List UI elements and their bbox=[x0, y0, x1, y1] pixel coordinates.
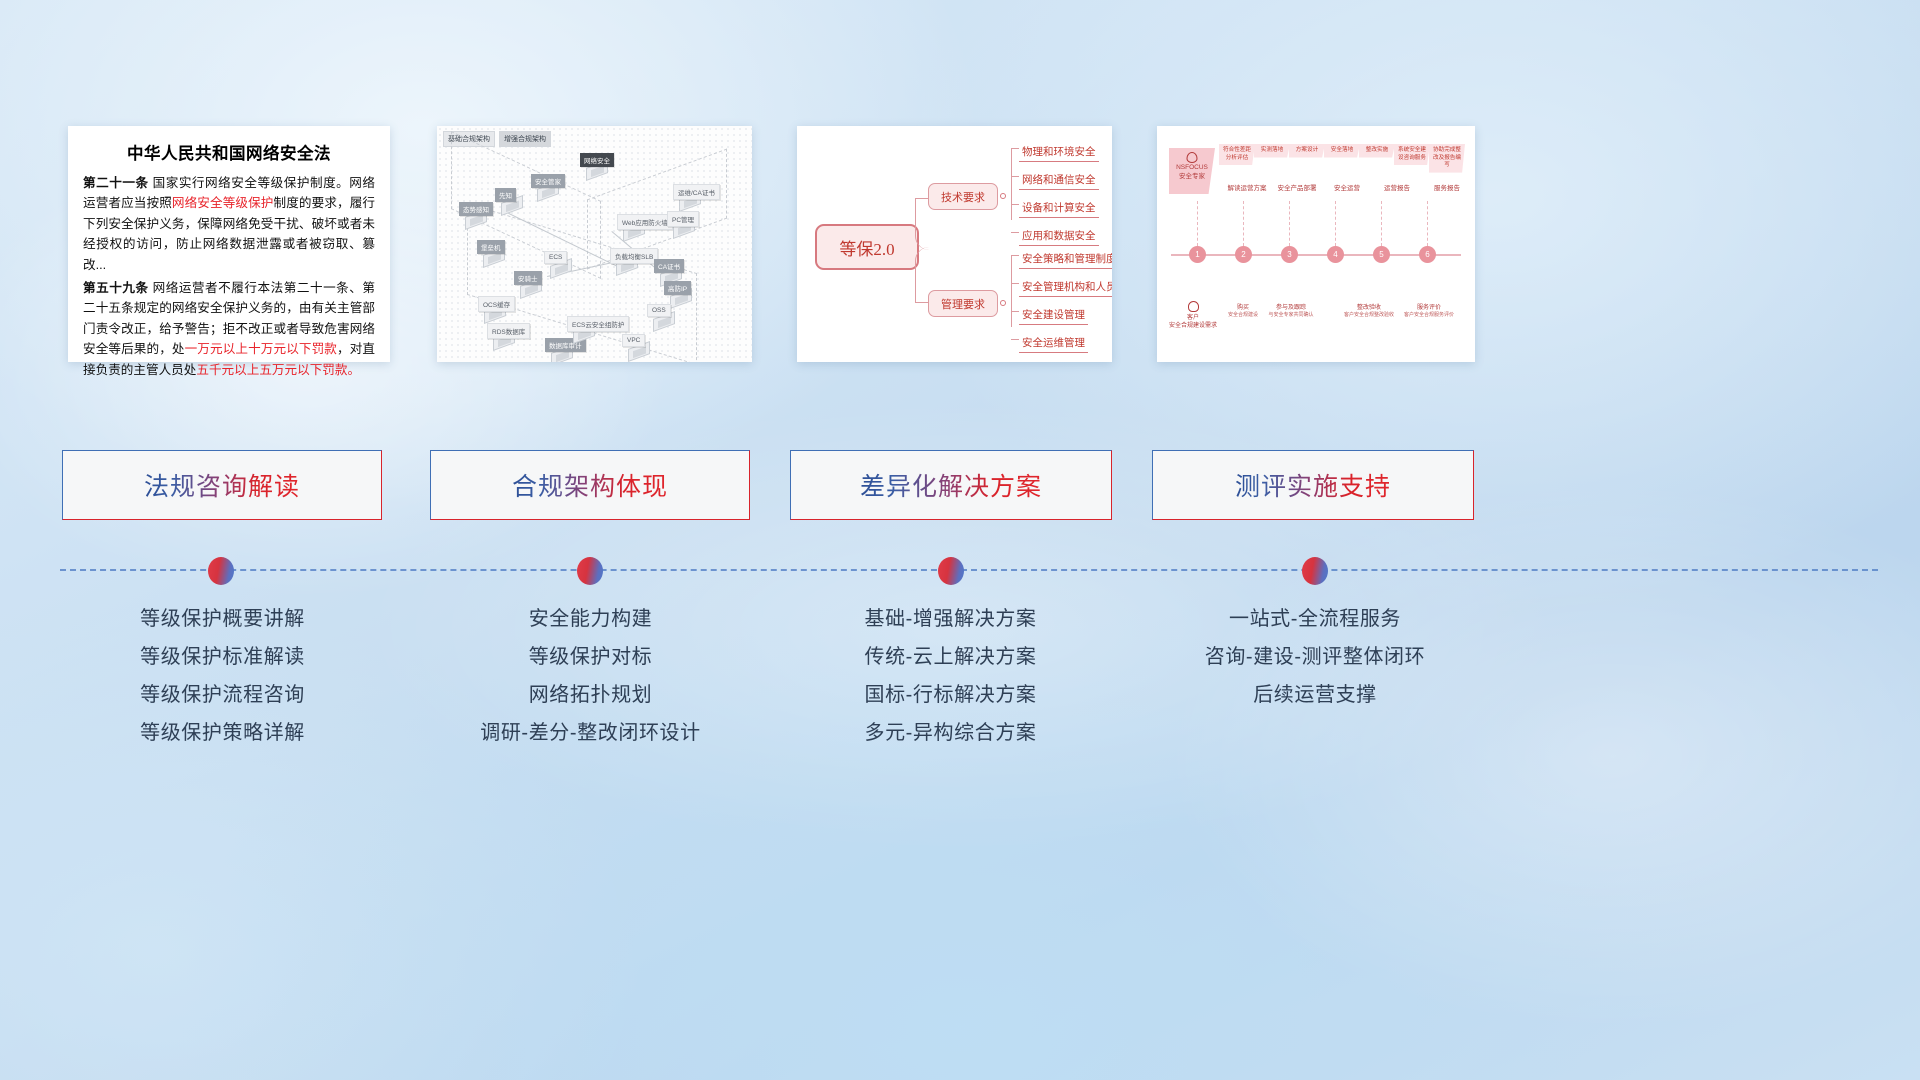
mindmap-leaf-connector bbox=[1011, 339, 1019, 340]
mindmap-branch-technical: 技术要求 bbox=[928, 183, 998, 210]
nsfocus-step-chevron: 方案设计 bbox=[1289, 144, 1325, 158]
feature-list-item: 后续运营支撑 bbox=[1150, 676, 1480, 714]
nsfocus-step-chevron: 系统安全建设咨询服务 bbox=[1394, 144, 1430, 165]
diagram-node-label: Web应用防火墙 bbox=[617, 214, 673, 230]
mindmap-leaf: 物理和环境安全 bbox=[1019, 144, 1099, 162]
feature-list-item: 基础-增强解决方案 bbox=[788, 600, 1113, 638]
law-article-number: 第二十一条 bbox=[83, 176, 153, 190]
timeline-dashed-line bbox=[60, 569, 1878, 571]
nsfocus-step-chevron: 实测落地 bbox=[1254, 144, 1290, 158]
diagram-node-label: 态势感知 bbox=[459, 202, 493, 216]
section-header-row: 法规咨询解读 合规架构体现 差异化解决方案 测评实施支持 bbox=[0, 450, 1920, 520]
feature-list-item: 多元-异构综合方案 bbox=[788, 714, 1113, 752]
feature-list-row: 等级保护概要讲解等级保护标准解读等级保护流程咨询等级保护策略详解 安全能力构建等… bbox=[0, 600, 1920, 820]
nsfocus-milestone-stem bbox=[1335, 201, 1336, 246]
diagram-node-label: 安全管家 bbox=[531, 174, 565, 188]
law-body: 第二十一条 国家实行网络安全等级保护制度。网络运营者应当按照网络安全等级保护制度… bbox=[83, 173, 375, 380]
nsfocus-footer-left-label: 客户 bbox=[1167, 314, 1219, 322]
diagram-node-label: RDS数据库 bbox=[487, 323, 530, 339]
nsfocus-footer-item-sub: 安全合规建设 bbox=[1217, 312, 1269, 319]
section-header-label-1: 法规咨询解读 bbox=[144, 467, 300, 503]
mindmap-leaf: 安全建设管理 bbox=[1019, 307, 1088, 325]
diagram-node-label: CA证书 bbox=[654, 259, 684, 273]
diagram-node-label: 高防IP bbox=[664, 281, 691, 295]
feature-list-item: 传统-云上解决方案 bbox=[788, 638, 1113, 676]
mindmap-collapse-dot-technical[interactable] bbox=[1000, 193, 1006, 199]
nsfocus-milestone-stem bbox=[1197, 201, 1198, 246]
mindmap-leaf-connector bbox=[1011, 283, 1019, 284]
section-header-box-3[interactable]: 差异化解决方案 bbox=[790, 450, 1112, 520]
law-title: 中华人民共和国网络安全法 bbox=[83, 140, 375, 164]
nsfocus-footer-item-sub: 客户安全合规整改验收 bbox=[1343, 312, 1395, 319]
law-document: 中华人民共和国网络安全法 第二十一条 国家实行网络安全等级保护制度。网络运营者应… bbox=[68, 126, 390, 388]
mindmap-leaf-connector bbox=[1011, 255, 1019, 256]
nsfocus-footer-item: 服务评价客户安全合规服务评价 bbox=[1403, 304, 1455, 319]
nsfocus-header-label: 安全产品部署 bbox=[1273, 184, 1321, 193]
nsfocus-footer-left: 客户 安全合规建设需求 bbox=[1167, 301, 1219, 331]
nsfocus-footer-item: 购买安全合规建设 bbox=[1217, 304, 1269, 319]
law-highlight-text: 一万元以上十万元以下罚款 bbox=[185, 342, 337, 356]
law-paragraph: 第五十九条 网络运营者不履行本法第二十一条、第二十五条规定的网络安全保护义务的，… bbox=[83, 278, 375, 380]
feature-list-item: 等级保护流程咨询 bbox=[60, 676, 385, 714]
mindmap-collapse-dot-management[interactable] bbox=[1000, 300, 1006, 306]
timeline-dot-2[interactable] bbox=[577, 557, 603, 585]
timeline-dot-4[interactable] bbox=[1302, 557, 1328, 585]
mindmap-leaf-connector bbox=[1011, 148, 1019, 149]
nsfocus-milestone[interactable]: 6 bbox=[1419, 246, 1436, 263]
nsfocus-milestone-stem bbox=[1381, 201, 1382, 246]
mindmap-leaf: 网络和通信安全 bbox=[1019, 172, 1099, 190]
card-row: 中华人民共和国网络安全法 第二十一条 国家实行网络安全等级保护制度。网络运营者应… bbox=[0, 126, 1920, 366]
nsfocus-milestone[interactable]: 5 bbox=[1373, 246, 1390, 263]
timeline-dot-1[interactable] bbox=[208, 557, 234, 585]
section-header-box-1[interactable]: 法规咨询解读 bbox=[62, 450, 382, 520]
feature-list-item: 网络拓扑规划 bbox=[428, 676, 753, 714]
nsfocus-footer-item-sub: 与安全专家共同确认 bbox=[1265, 312, 1317, 319]
customer-icon bbox=[1188, 301, 1199, 312]
feature-list-item: 一站式-全流程服务 bbox=[1150, 600, 1480, 638]
card-cybersecurity-law[interactable]: 中华人民共和国网络安全法 第二十一条 国家实行网络安全等级保护制度。网络运营者应… bbox=[68, 126, 390, 362]
diagram-node-label: OCS缓存 bbox=[478, 296, 515, 312]
diagram-node-label: 堡垒机 bbox=[477, 240, 505, 254]
person-icon bbox=[1187, 152, 1198, 163]
card-compliance-architecture[interactable]: 基础合规架构增强合规架构 网络安全安全管家先知态势感知堡垒机ECS安骑士OCS缓… bbox=[437, 126, 752, 362]
mindmap-branch-management: 管理要求 bbox=[928, 290, 998, 317]
feature-list-1: 等级保护概要讲解等级保护标准解读等级保护流程咨询等级保护策略详解 bbox=[60, 600, 385, 752]
mindmap-leaf: 安全管理机构和人员 bbox=[1019, 279, 1112, 297]
diagram-node-label: ECS bbox=[544, 251, 567, 264]
card-dengbao-mindmap[interactable]: 等保2.0 技术要求 管理要求 物理和环境安全网络和通信安全设备和计算安全应用和… bbox=[797, 126, 1112, 362]
nsfocus-process: NSFOCUS 安全专家 符合性差距分析评估实测落地方案设计安全落地整改实施系统… bbox=[1157, 126, 1475, 362]
law-paragraph: 第二十一条 国家实行网络安全等级保护制度。网络运营者应当按照网络安全等级保护制度… bbox=[83, 173, 375, 275]
feature-list-3: 基础-增强解决方案传统-云上解决方案国标-行标解决方案多元-异构综合方案 bbox=[788, 600, 1113, 752]
nsfocus-expert-badge: NSFOCUS 安全专家 bbox=[1169, 148, 1215, 194]
architecture-diagram: 基础合规架构增强合规架构 网络安全安全管家先知态势感知堡垒机ECS安骑士OCS缓… bbox=[437, 126, 752, 362]
nsfocus-step-chevron: 整改实施 bbox=[1359, 144, 1395, 158]
diagram-node-label: ECS云安全组防护 bbox=[567, 316, 629, 332]
diagram-node-label: OSS bbox=[647, 304, 671, 317]
nsfocus-step-chevron: 安全落地 bbox=[1324, 144, 1360, 158]
nsfocus-milestone-stem bbox=[1289, 201, 1290, 246]
mindmap-leaf: 设备和计算安全 bbox=[1019, 200, 1099, 218]
mindmap-leaf-connector bbox=[1011, 204, 1019, 205]
law-highlight-text: 五千元以上五万元以下罚款。 bbox=[196, 363, 360, 377]
nsfocus-axis bbox=[1171, 254, 1461, 256]
diagram-node-label: PC管理 bbox=[667, 211, 699, 227]
law-highlight-text: 网络安全等级保护 bbox=[172, 196, 274, 210]
timeline-dot-3[interactable] bbox=[938, 557, 964, 585]
mindmap-leaf-connector bbox=[1011, 176, 1019, 177]
feature-list-4: 一站式-全流程服务咨询-建设-测评整体闭环后续运营支撑 bbox=[1150, 600, 1480, 714]
mindmap: 等保2.0 技术要求 管理要求 物理和环境安全网络和通信安全设备和计算安全应用和… bbox=[797, 126, 1112, 362]
feature-list-item: 等级保护策略详解 bbox=[60, 714, 385, 752]
nsfocus-milestone[interactable]: 4 bbox=[1327, 246, 1344, 263]
mindmap-leaf: 应用和数据安全 bbox=[1019, 228, 1099, 246]
architecture-tab[interactable]: 增强合规架构 bbox=[499, 131, 551, 147]
mindmap-spine-technical bbox=[1011, 148, 1012, 220]
nsfocus-milestone[interactable]: 2 bbox=[1235, 246, 1252, 263]
diagram-node-label: 先知 bbox=[495, 188, 516, 202]
nsfocus-footer-item: 参与及跟踪与安全专家共同确认 bbox=[1265, 304, 1317, 319]
feature-list-item: 咨询-建设-测评整体闭环 bbox=[1150, 638, 1480, 676]
diagram-node-label: 运维/CA证书 bbox=[673, 184, 720, 200]
mindmap-leaf: 安全策略和管理制度 bbox=[1019, 251, 1112, 269]
feature-list-item: 等级保护标准解读 bbox=[60, 638, 385, 676]
law-article-number: 第五十九条 bbox=[83, 281, 153, 295]
diagram-node-label: 网络安全 bbox=[580, 153, 614, 167]
section-header-label-2: 合规架构体现 bbox=[512, 467, 668, 503]
nsfocus-header-label: 安全运营 bbox=[1323, 184, 1371, 193]
nsfocus-footer-item: 整改验收客户安全合规整改验收 bbox=[1343, 304, 1395, 319]
feature-list-item: 安全能力构建 bbox=[428, 600, 753, 638]
feature-list-item: 国标-行标解决方案 bbox=[788, 676, 1113, 714]
nsfocus-milestone[interactable]: 3 bbox=[1281, 246, 1298, 263]
nsfocus-header-label: 解读运营方案 bbox=[1223, 184, 1271, 193]
diagram-node-label: 负载均衡SLB bbox=[610, 248, 658, 264]
card-nsfocus-timeline[interactable]: NSFOCUS 安全专家 符合性差距分析评估实测落地方案设计安全落地整改实施系统… bbox=[1157, 126, 1475, 362]
feature-list-item: 等级保护对标 bbox=[428, 638, 753, 676]
nsfocus-header-label: 运营报告 bbox=[1373, 184, 1421, 193]
nsfocus-milestone-stem bbox=[1427, 201, 1428, 246]
mindmap-leaf: 安全运维管理 bbox=[1019, 335, 1088, 353]
nsfocus-badge-line1: NSFOCUS bbox=[1169, 164, 1215, 173]
section-header-box-2[interactable]: 合规架构体现 bbox=[430, 450, 750, 520]
nsfocus-header-label: 服务报告 bbox=[1423, 184, 1471, 193]
nsfocus-milestone-stem bbox=[1243, 201, 1244, 246]
feature-list-2: 安全能力构建等级保护对标网络拓扑规划调研-差分-整改闭环设计 bbox=[428, 600, 753, 752]
timeline bbox=[0, 560, 1920, 584]
diagram-node-label: 安骑士 bbox=[514, 271, 542, 285]
nsfocus-milestone[interactable]: 1 bbox=[1189, 246, 1206, 263]
nsfocus-step-chevron: 协助完成整改及报告编写 bbox=[1429, 144, 1465, 173]
mindmap-leaf-connector bbox=[1011, 232, 1019, 233]
diagram-node-label: VPC bbox=[622, 334, 645, 347]
nsfocus-footer-left-sub: 安全合规建设需求 bbox=[1167, 322, 1219, 330]
section-header-label-4: 测评实施支持 bbox=[1235, 467, 1391, 503]
section-header-box-4[interactable]: 测评实施支持 bbox=[1152, 450, 1474, 520]
mindmap-root: 等保2.0 bbox=[815, 224, 919, 270]
nsfocus-step-chevron: 符合性差距分析评估 bbox=[1219, 144, 1255, 165]
nsfocus-footer-item-sub: 客户安全合规服务评价 bbox=[1403, 312, 1455, 319]
mindmap-spine-management bbox=[1011, 255, 1012, 327]
feature-list-item: 等级保护概要讲解 bbox=[60, 600, 385, 638]
mindmap-leaf-connector bbox=[1011, 311, 1019, 312]
nsfocus-badge-line2: 安全专家 bbox=[1169, 173, 1215, 182]
feature-list-item: 调研-差分-整改闭环设计 bbox=[428, 714, 753, 752]
section-header-label-3: 差异化解决方案 bbox=[860, 467, 1042, 503]
